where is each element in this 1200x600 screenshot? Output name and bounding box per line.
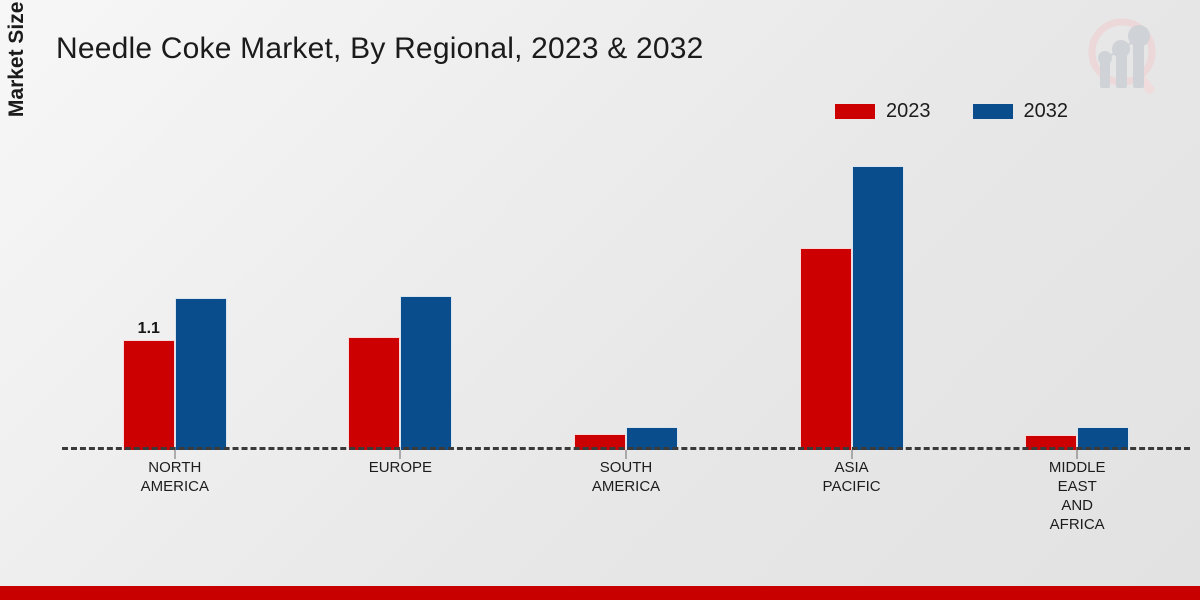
bar-2032[interactable]	[175, 298, 227, 450]
x-axis-label: SOUTHAMERICA	[513, 458, 739, 534]
legend-item-2032[interactable]: 2032	[973, 101, 1069, 121]
bar-group: 1.1	[62, 130, 288, 450]
x-axis-baseline	[62, 447, 1190, 450]
x-axis-label: ASIAPACIFIC	[739, 458, 965, 534]
footer-accent-bar	[0, 586, 1200, 600]
legend-label-2032: 2032	[1024, 101, 1069, 121]
bar-2023[interactable]	[348, 337, 400, 450]
bar-pair: 1.1	[123, 130, 227, 450]
x-axis-label: NORTHAMERICA	[62, 458, 288, 534]
bar-pair	[574, 130, 678, 450]
legend-swatch-2023	[835, 104, 875, 119]
bar-pair	[348, 130, 452, 450]
bar-group	[513, 130, 739, 450]
legend-label-2023: 2023	[886, 101, 931, 121]
chart-container: Needle Coke Market, By Regional, 2023 & …	[0, 0, 1200, 600]
bar-value-label: 1.1	[138, 320, 160, 338]
bar-group	[964, 130, 1190, 450]
bar-2032[interactable]	[852, 166, 904, 450]
chart-title: Needle Coke Market, By Regional, 2023 & …	[56, 32, 704, 66]
plot-area: 1.1	[62, 130, 1190, 450]
bar-2032[interactable]	[400, 296, 452, 450]
bar-2023[interactable]: 1.1	[123, 340, 175, 450]
chart-legend: 2023 2032	[835, 101, 1068, 121]
y-axis-title: Market Size in USD Billion	[0, 0, 34, 152]
x-axis-labels: NORTHAMERICAEUROPESOUTHAMERICAASIAPACIFI…	[62, 458, 1190, 534]
x-axis-label: MIDDLEEASTANDAFRICA	[964, 458, 1190, 534]
bar-groups: 1.1	[62, 130, 1190, 450]
x-axis-label: EUROPE	[288, 458, 514, 534]
bar-2023[interactable]	[800, 248, 852, 450]
bar-pair	[1025, 130, 1129, 450]
bar-group	[739, 130, 965, 450]
bar-pair	[800, 130, 904, 450]
bar-group	[288, 130, 514, 450]
legend-swatch-2032	[973, 104, 1013, 119]
legend-item-2023[interactable]: 2023	[835, 101, 931, 121]
magnifier-bar-chart-logo-icon	[1070, 8, 1178, 104]
